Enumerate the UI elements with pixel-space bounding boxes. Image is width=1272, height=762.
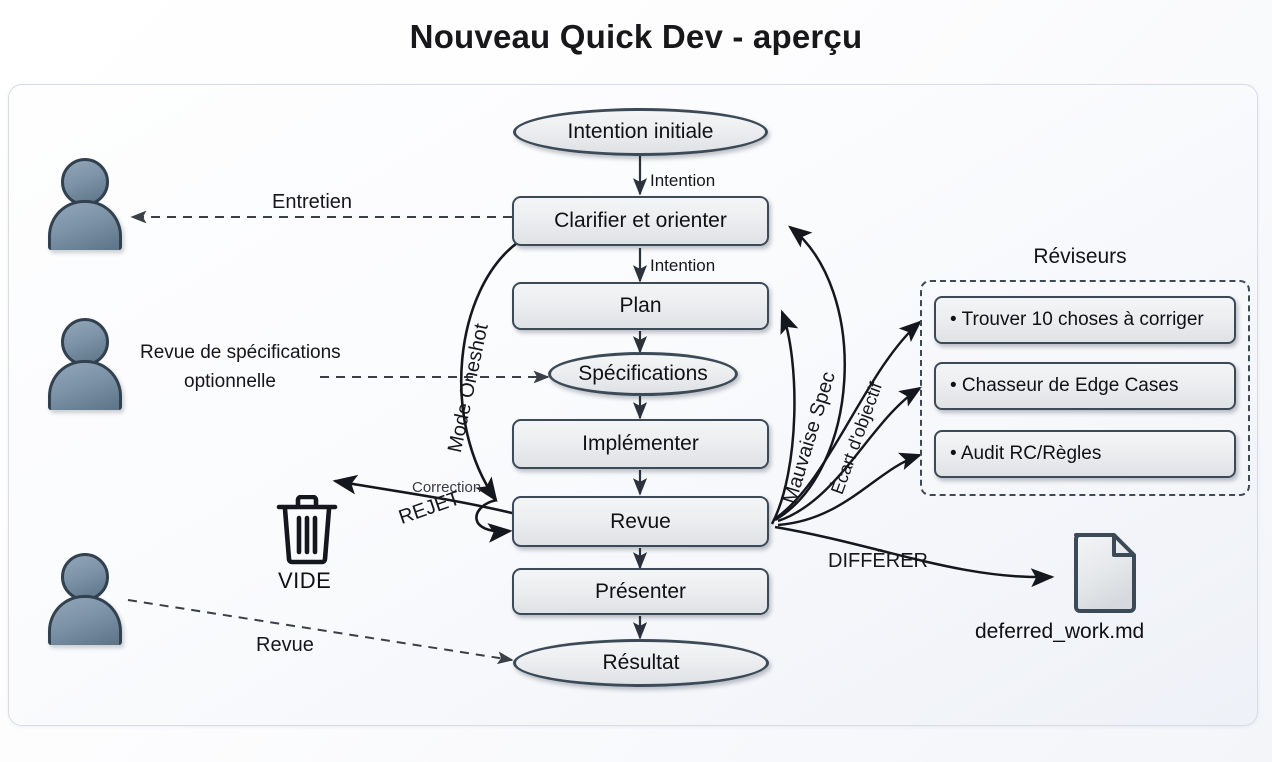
node-specifications[interactable]: Spécifications	[548, 352, 738, 396]
edge-label-entretien: Entretien	[272, 191, 352, 214]
actor-body-icon	[48, 595, 122, 645]
actor-head-icon	[61, 553, 109, 601]
actor-body-icon	[48, 360, 122, 410]
actor-spec-reviewer-label-line2: optionnelle	[184, 371, 276, 393]
reviewer-item-3[interactable]: • Audit RC/Règles	[934, 430, 1236, 478]
reviewer-item-1[interactable]: • Trouver 10 choses à corriger	[934, 296, 1236, 344]
actor-revue[interactable]	[48, 553, 122, 645]
actor-spec-reviewer[interactable]	[48, 318, 122, 410]
node-label: Plan	[619, 294, 661, 318]
reviewers-title: Réviseurs	[920, 245, 1240, 269]
edge-label-intention-1: Intention	[650, 171, 715, 191]
file-icon[interactable]	[1070, 531, 1140, 615]
reviewer-item-label: • Audit RC/Règles	[950, 443, 1101, 465]
file-label: deferred_work.md	[975, 620, 1144, 644]
node-presenter[interactable]: Présenter	[512, 568, 769, 615]
node-revue[interactable]: Revue	[512, 496, 769, 547]
node-label: Implémenter	[582, 432, 699, 456]
node-label: Revue	[610, 510, 671, 534]
node-clarifier-et-orienter[interactable]: Clarifier et orienter	[512, 196, 769, 246]
trash-icon[interactable]	[274, 495, 340, 567]
trash-label: VIDE	[278, 568, 331, 594]
page-title: Nouveau Quick Dev - aperçu	[0, 18, 1272, 56]
edge-label-differer: DIFFÉRER	[828, 550, 928, 573]
node-label: Clarifier et orienter	[554, 209, 727, 233]
actor-spec-reviewer-label-line1: Revue de spécifications	[140, 342, 341, 364]
node-label: Intention initiale	[568, 120, 714, 144]
actor-head-icon	[61, 158, 109, 206]
actor-body-icon	[48, 200, 122, 250]
node-plan[interactable]: Plan	[512, 282, 769, 330]
actor-head-icon	[61, 318, 109, 366]
edge-label-revue-actor: Revue	[256, 634, 314, 657]
diagram-root: Nouveau Quick Dev - aperçu	[0, 0, 1272, 762]
reviewer-item-label: • Trouver 10 choses à corriger	[950, 309, 1204, 331]
actor-entretien[interactable]	[48, 158, 122, 250]
node-label: Résultat	[602, 651, 679, 675]
edge-label-intention-2: Intention	[650, 256, 715, 276]
node-label: Spécifications	[578, 362, 708, 386]
reviewer-item-2[interactable]: • Chasseur de Edge Cases	[934, 362, 1236, 410]
node-resultat[interactable]: Résultat	[513, 639, 769, 687]
node-implementer[interactable]: Implémenter	[512, 419, 769, 469]
node-label: Présenter	[595, 580, 686, 604]
node-intention-initiale[interactable]: Intention initiale	[513, 108, 768, 156]
reviewer-item-label: • Chasseur de Edge Cases	[950, 375, 1178, 397]
